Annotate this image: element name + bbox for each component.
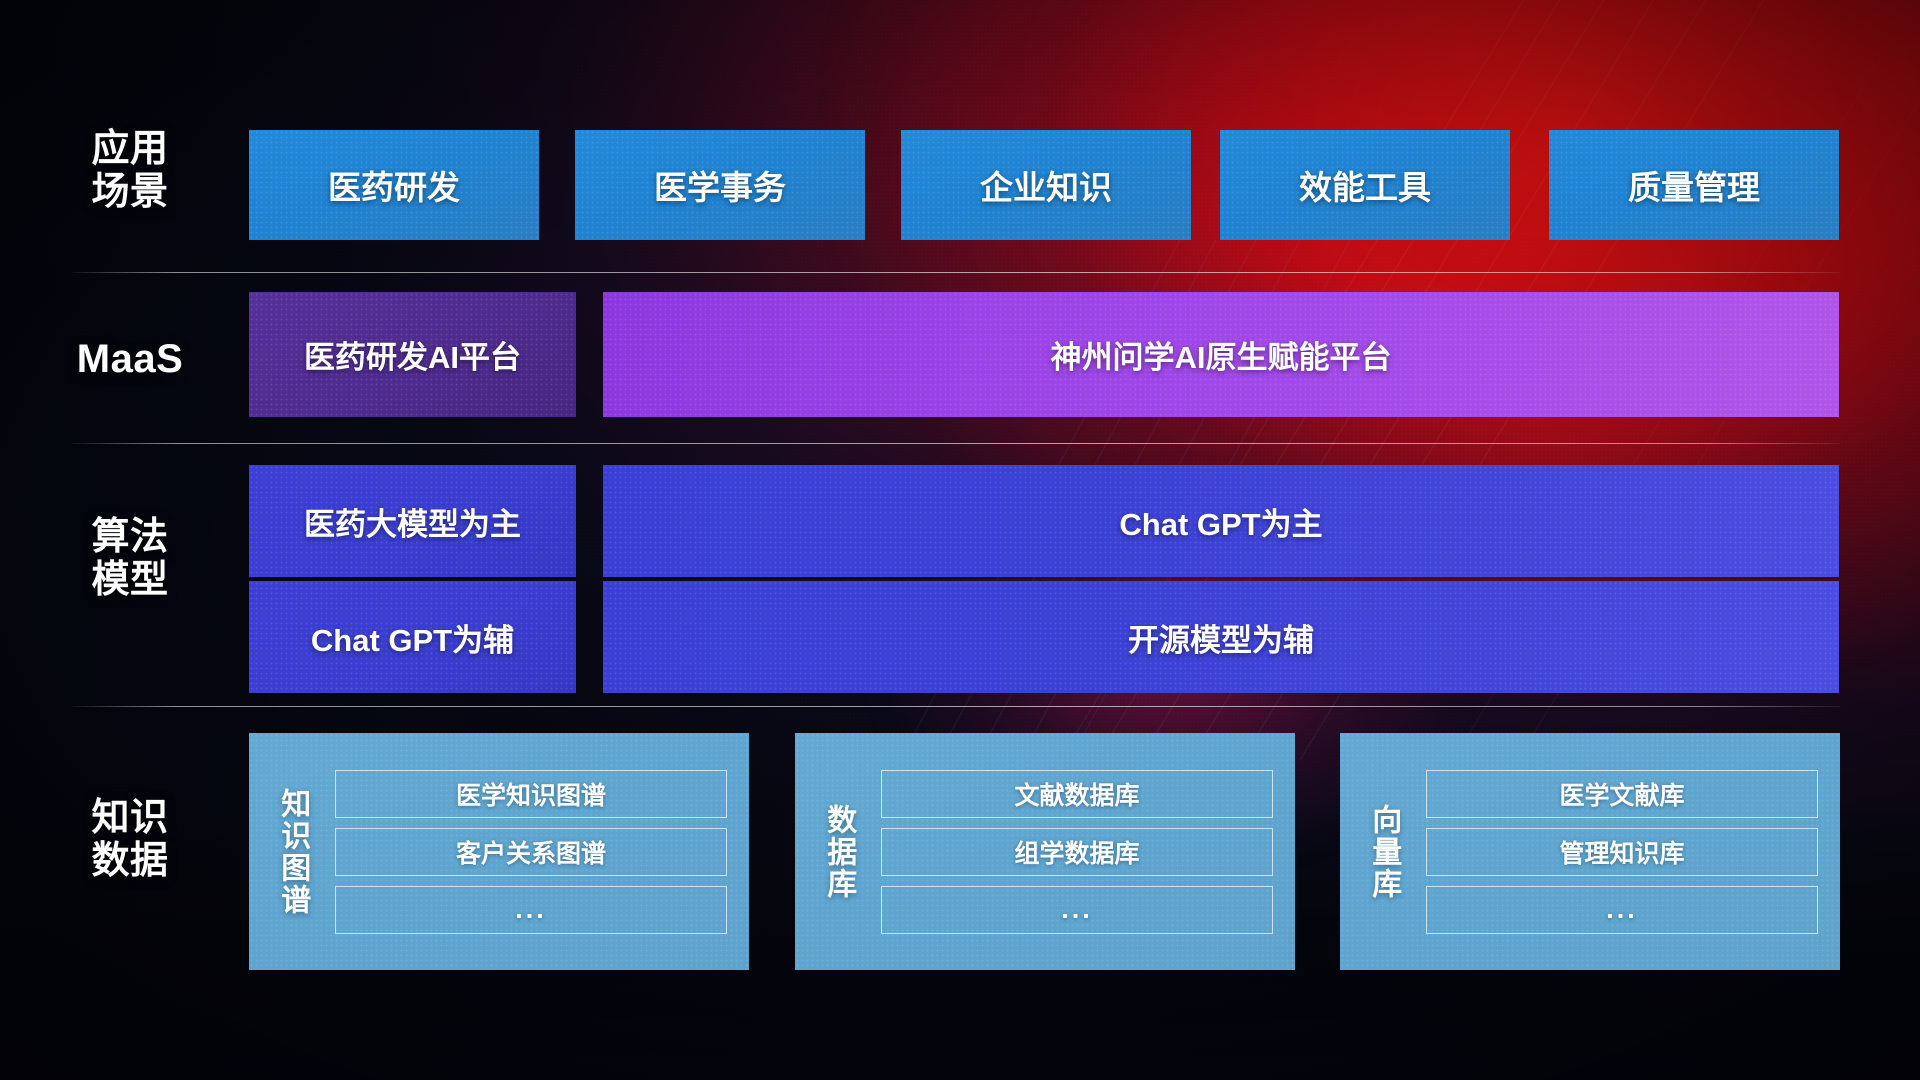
maas-cell-shenzhou-platform-label: 神州问学AI原生赋能平台 [1051, 332, 1392, 377]
kb-item-more[interactable]: ... [335, 886, 727, 934]
divider-1 [72, 272, 1840, 273]
algo-cell-opensource-secondary-label: 开源模型为辅 [1128, 615, 1314, 660]
kb-item[interactable]: 医学知识图谱 [335, 770, 727, 818]
knowledge-group-knowledge-graph-items: 医学知识图谱 客户关系图谱 ... [335, 733, 749, 970]
algo-cell-medical-llm-primary-label: 医药大模型为主 [304, 499, 521, 544]
kb-item[interactable]: 组学数据库 [881, 828, 1273, 876]
app-cell-0-label: 医药研发 [328, 161, 460, 209]
divider-2 [72, 443, 1840, 444]
knowledge-group-knowledge-graph-title: 知识图谱 [249, 733, 335, 970]
knowledge-group-database-items: 文献数据库 组学数据库 ... [881, 733, 1295, 970]
kb-item-more[interactable]: ... [881, 886, 1273, 934]
algo-cell-chatgpt-secondary-label: Chat GPT为辅 [311, 615, 514, 660]
app-cell-4[interactable]: 质量管理 [1549, 130, 1839, 240]
divider-3 [72, 706, 1840, 707]
app-cell-0[interactable]: 医药研发 [249, 130, 539, 240]
kb-item-more[interactable]: ... [1426, 886, 1818, 934]
row-label-knowledge-data: 知识 数据 [72, 797, 188, 882]
architecture-diagram: 应用 场景 医药研发 医学事务 企业知识 效能工具 质量管理 MaaS 医药研发… [0, 0, 1920, 1080]
app-cell-1[interactable]: 医学事务 [575, 130, 865, 240]
algo-cell-opensource-secondary[interactable]: 开源模型为辅 [603, 581, 1839, 693]
row-label-maas: MaaS [62, 337, 198, 382]
algo-cell-chatgpt-primary[interactable]: Chat GPT为主 [603, 465, 1839, 577]
knowledge-group-database-title: 数据库 [795, 733, 881, 970]
app-cell-3[interactable]: 效能工具 [1220, 130, 1510, 240]
algo-cell-chatgpt-primary-label: Chat GPT为主 [1119, 499, 1322, 544]
app-cell-3-label: 效能工具 [1299, 161, 1431, 209]
app-cell-1-label: 医学事务 [654, 161, 786, 209]
app-cell-2-label: 企业知识 [980, 161, 1112, 209]
knowledge-group-database[interactable]: 数据库 文献数据库 组学数据库 ... [795, 733, 1295, 970]
algo-cell-chatgpt-secondary[interactable]: Chat GPT为辅 [249, 581, 576, 693]
maas-cell-medical-ai-platform[interactable]: 医药研发AI平台 [249, 292, 576, 417]
app-cell-2[interactable]: 企业知识 [901, 130, 1191, 240]
algo-cell-medical-llm-primary[interactable]: 医药大模型为主 [249, 465, 576, 577]
maas-cell-medical-ai-platform-label: 医药研发AI平台 [304, 332, 521, 377]
kb-item[interactable]: 医学文献库 [1426, 770, 1818, 818]
kb-item[interactable]: 管理知识库 [1426, 828, 1818, 876]
maas-cell-shenzhou-platform[interactable]: 神州问学AI原生赋能平台 [603, 292, 1839, 417]
knowledge-group-knowledge-graph[interactable]: 知识图谱 医学知识图谱 客户关系图谱 ... [249, 733, 749, 970]
row-label-algorithm-model: 算法 模型 [72, 516, 188, 601]
kb-item[interactable]: 文献数据库 [881, 770, 1273, 818]
row-label-application-scenario: 应用 场景 [72, 128, 188, 213]
knowledge-group-vector-store-title: 向量库 [1340, 733, 1426, 970]
knowledge-group-vector-store-items: 医学文献库 管理知识库 ... [1426, 733, 1840, 970]
knowledge-group-vector-store[interactable]: 向量库 医学文献库 管理知识库 ... [1340, 733, 1840, 970]
kb-item[interactable]: 客户关系图谱 [335, 828, 727, 876]
app-cell-4-label: 质量管理 [1628, 161, 1760, 209]
